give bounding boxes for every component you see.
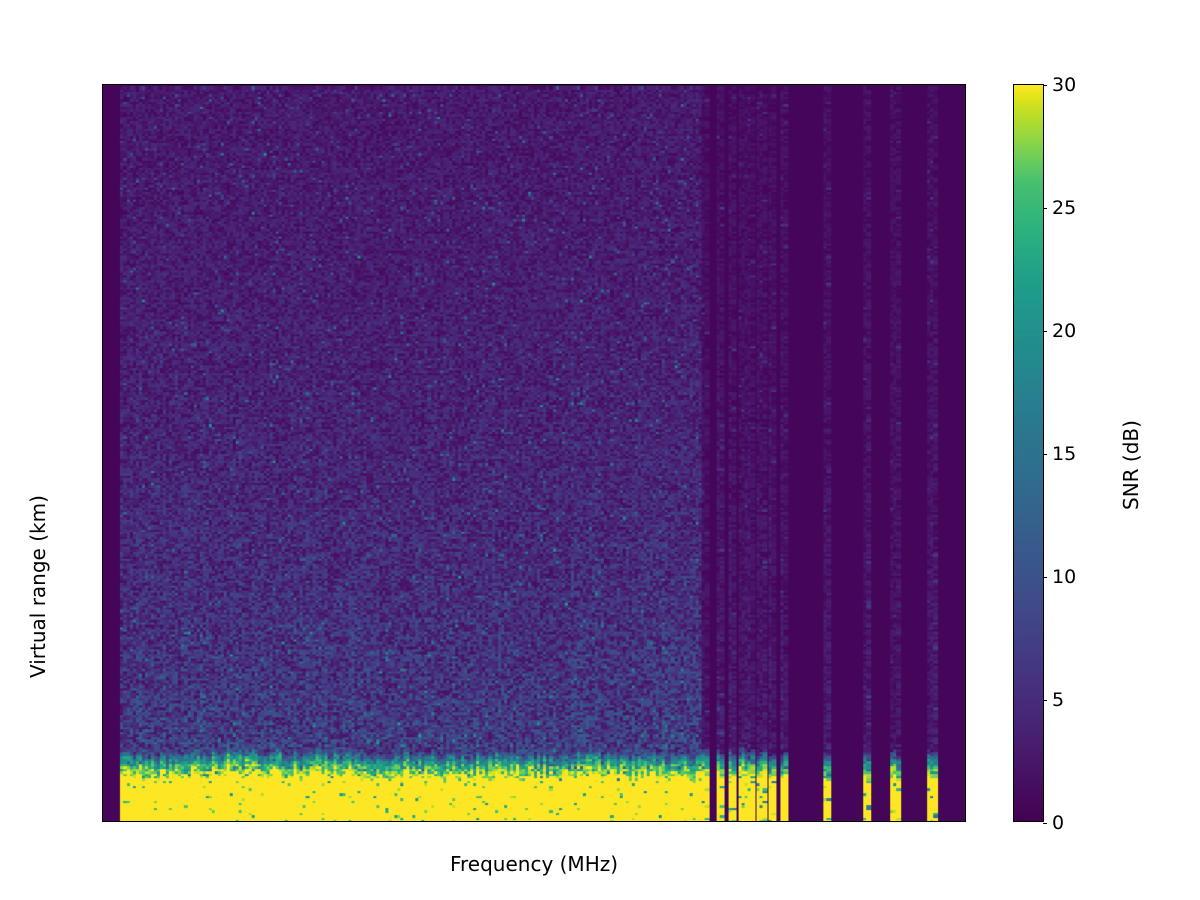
y-tick-mark [102, 326, 103, 327]
y-tick-mark [102, 206, 103, 207]
colorbar-tick-label: 15 [1052, 443, 1076, 465]
x-tick-mark [284, 821, 285, 822]
plot-axes[interactable]: 0100200300400500600246810121416 [102, 84, 966, 822]
colorbar-label: SNR (dB) [1119, 420, 1143, 510]
colorbar-tick-mark [1043, 85, 1047, 86]
x-tick-mark [937, 821, 938, 822]
colorbar-tick-mark [1043, 208, 1047, 209]
colorbar-tick-label: 25 [1052, 197, 1076, 219]
colorbar-tick-label: 20 [1052, 320, 1076, 342]
colorbar-tick-label: 5 [1052, 689, 1064, 711]
x-tick-mark [175, 821, 176, 822]
colorbar-tick-label: 0 [1052, 812, 1064, 834]
colorbar-tick-mark [1043, 454, 1047, 455]
colorbar-tick-label: 30 [1052, 74, 1076, 96]
x-tick-mark [610, 821, 611, 822]
colorbar-tick-label: 10 [1052, 566, 1076, 588]
y-axis-label: Virtual range (km) [26, 495, 50, 678]
colorbar[interactable]: 051015202530 [1013, 84, 1044, 822]
y-tick-mark [102, 85, 103, 86]
x-axis-label: Frequency (MHz) [102, 852, 966, 876]
colorbar-tick-mark [1043, 700, 1047, 701]
y-tick-mark [102, 809, 103, 810]
y-tick-mark [102, 688, 103, 689]
y-tick-mark [102, 567, 103, 568]
x-tick-mark [828, 821, 829, 822]
x-tick-mark [502, 821, 503, 822]
x-tick-mark [393, 821, 394, 822]
y-tick-mark [102, 447, 103, 448]
x-tick-mark [719, 821, 720, 822]
colorbar-tick-mark [1043, 331, 1047, 332]
colorbar-tick-mark [1043, 577, 1047, 578]
ionogram-figure: IRF Kiruna Ionosonde KI167 2025-09-16 21… [0, 0, 1200, 900]
ionogram-heatmap [103, 85, 965, 821]
colorbar-tick-mark [1043, 823, 1047, 824]
